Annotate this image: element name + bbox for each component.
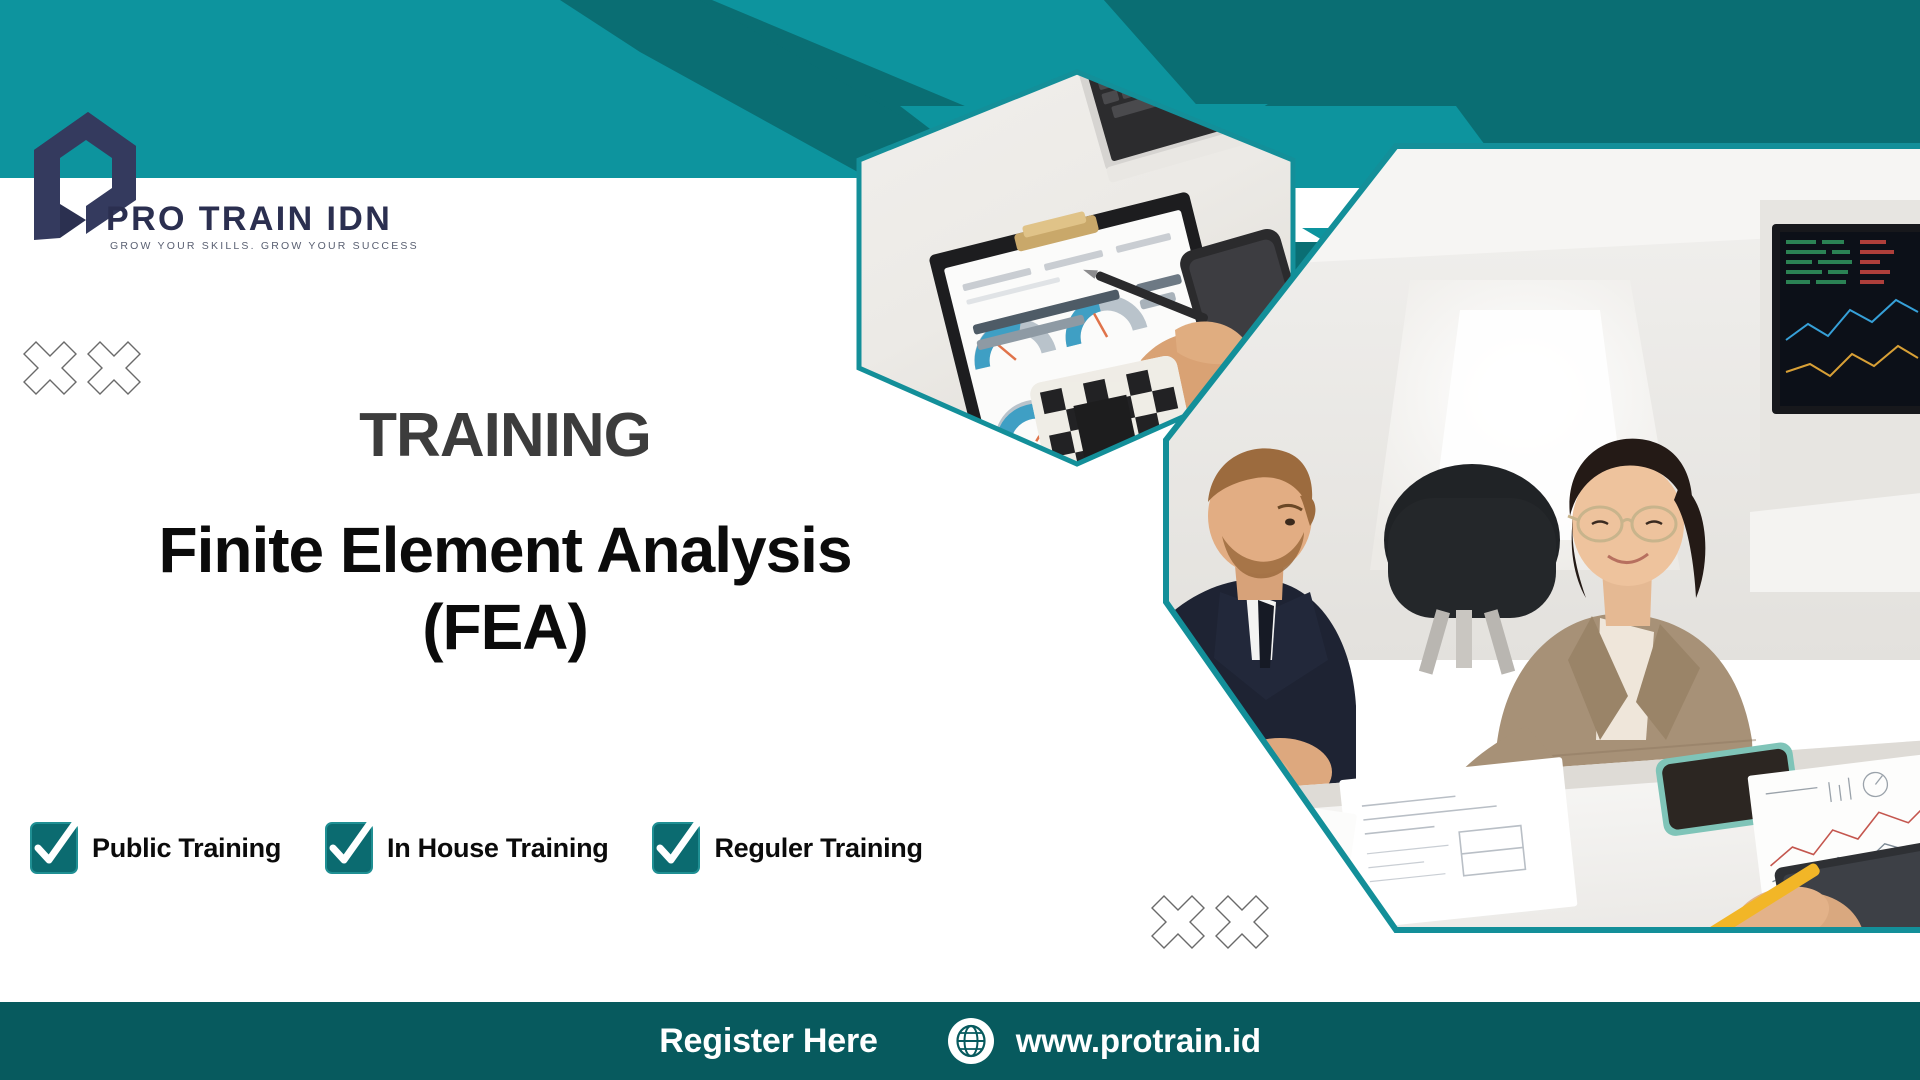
footer-bar: Register Here www.protrain.id (0, 1002, 1920, 1080)
website-url[interactable]: www.protrain.id (1016, 1022, 1261, 1060)
brand-name: PRO TRAIN IDN (106, 200, 392, 239)
feature-reguler-training[interactable]: Reguler Training (652, 822, 922, 874)
check-icon[interactable] (30, 822, 78, 874)
globe-icon (948, 1018, 994, 1064)
brand-logo: PRO TRAIN IDN GROW YOUR SKILLS. GROW YOU… (26, 108, 406, 268)
feature-label: In House Training (387, 833, 608, 864)
feature-public-training[interactable]: Public Training (30, 822, 281, 874)
feature-in-house-training[interactable]: In House Training (325, 822, 608, 874)
training-promo-banner: PRO TRAIN IDN GROW YOUR SKILLS. GROW YOU… (0, 0, 1920, 1080)
brand-tagline: GROW YOUR SKILLS. GROW YOUR SUCCESS (110, 240, 419, 252)
feature-label: Public Training (92, 833, 281, 864)
feature-label: Reguler Training (714, 833, 922, 864)
hexagon-photo-meeting (1160, 140, 1920, 960)
decorative-cross-pair-left (22, 336, 142, 398)
register-here-label[interactable]: Register Here (659, 1022, 878, 1061)
eyebrow-label: TRAINING (0, 400, 1010, 471)
check-icon[interactable] (652, 822, 700, 874)
training-type-list: Public Training In House Training Regule… (30, 822, 923, 874)
website-group[interactable]: www.protrain.id (948, 1018, 1261, 1064)
title-line-1: Finite Element Analysis (0, 512, 1010, 589)
check-icon[interactable] (325, 822, 373, 874)
page-title: Finite Element Analysis (FEA) (0, 512, 1010, 666)
title-line-2: (FEA) (0, 589, 1010, 666)
